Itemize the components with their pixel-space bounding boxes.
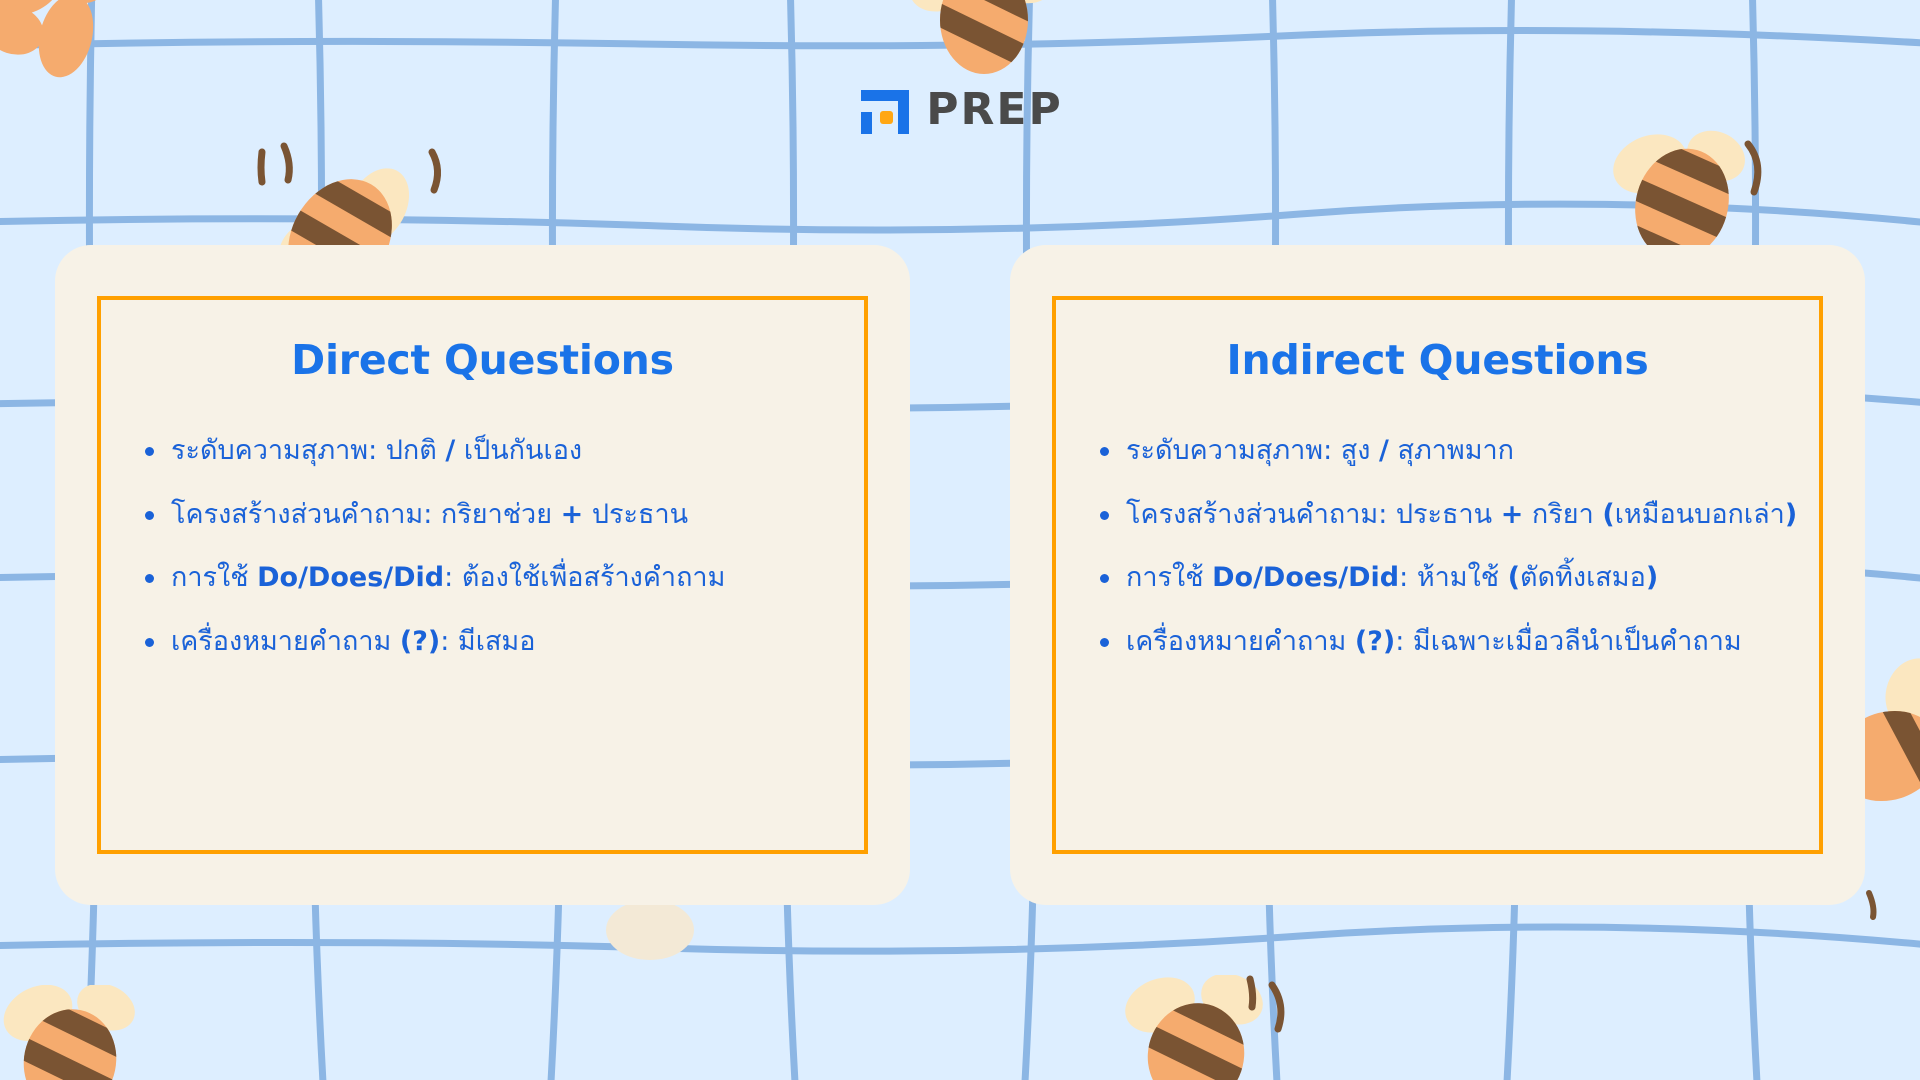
list-item-mid: :: [1399, 562, 1408, 593]
list-item-mid: :: [444, 562, 453, 593]
list-item: ระดับความสุภาพ: สูง / สุภาพมาก: [1090, 433, 1785, 469]
list-item-mid: กริยาช่วย: [432, 499, 560, 530]
card-indirect-inner-frame: Indirect Questions ระดับความสุภาพ: สูง /…: [1052, 296, 1823, 854]
list-item: เครื่องหมายคำถาม (?): มีเสมอ: [135, 624, 830, 660]
list-item-tail: กริยา: [1523, 499, 1602, 530]
list-item: การใช้ Do/Does/Did: ห้ามใช้ (ตัดทิ้งเสมอ…: [1090, 560, 1785, 596]
brand-logo[interactable]: PREP: [0, 82, 1920, 138]
list-item-strong-close-paren: ): [1785, 499, 1797, 530]
list-item: การใช้ Do/Does/Did: ต้องใช้เพื่อสร้างคำถ…: [135, 560, 830, 596]
list-item-mid: :: [440, 626, 449, 657]
bee-top-center-icon: [900, 0, 1070, 78]
list-item-strong-open-paren: (: [1602, 499, 1614, 530]
bullet-icon: [145, 574, 154, 583]
list-item-strong: /: [1379, 435, 1389, 466]
bullet-icon: [1100, 638, 1109, 647]
bee-bottom-left-icon: [0, 985, 170, 1080]
list-item-tail: มีเฉพาะเมื่อวลีนำเป็นคำถาม: [1404, 626, 1741, 657]
list-item-strong-open-paren: (: [1508, 562, 1520, 593]
list-item-tail: สุภาพมาก: [1389, 435, 1514, 466]
list-item-tail: ห้ามใช้: [1408, 562, 1507, 593]
bullet-icon: [1100, 574, 1109, 583]
list-item: โครงสร้างส่วนคำถาม: กริยาช่วย + ประธาน: [135, 497, 830, 533]
list-item-label: ระดับความสุภาพ:: [171, 435, 377, 466]
list-item-label: เครื่องหมายคำถาม: [1126, 626, 1355, 657]
bullet-icon: [1100, 447, 1109, 456]
accent-dash-icon: [1855, 885, 1895, 925]
card-direct-title: Direct Questions: [135, 336, 830, 385]
list-item-strong: Do/Does/Did: [257, 562, 444, 593]
list-item-strong: +: [1501, 499, 1524, 530]
list-item-strong: Do/Does/Did: [1212, 562, 1399, 593]
list-item-tail: ต้องใช้เพื่อสร้างคำถาม: [453, 562, 725, 593]
list-item-label: โครงสร้างส่วนคำถาม:: [1126, 499, 1387, 530]
list-item-label: การใช้: [1126, 562, 1212, 593]
poster-canvas: PREP Direct Questions ระดับความสุภาพ: ปก…: [0, 0, 1920, 1080]
card-direct-inner-frame: Direct Questions ระดับความสุภาพ: ปกติ / …: [97, 296, 868, 854]
list-item-tail2: ตัดทิ้งเสมอ: [1520, 562, 1646, 593]
brand-logo-text: PREP: [926, 88, 1062, 132]
list-item-mid: สูง: [1332, 435, 1379, 466]
bullet-icon: [145, 447, 154, 456]
list-item-tail: ประธาน: [583, 499, 688, 530]
list-item-mid: ปกติ: [377, 435, 445, 466]
list-item-label: ระดับความสุภาพ:: [1126, 435, 1332, 466]
list-item: โครงสร้างส่วนคำถาม: ประธาน + กริยา (เหมื…: [1090, 497, 1785, 533]
list-item-strong-close-paren: ): [1646, 562, 1658, 593]
bee-bottom-center-icon: [1100, 975, 1300, 1080]
bullet-icon: [145, 511, 154, 520]
card-indirect-title: Indirect Questions: [1090, 336, 1785, 385]
list-item-mid: :: [1395, 626, 1404, 657]
list-item: เครื่องหมายคำถาม (?): มีเฉพาะเมื่อวลีนำเ…: [1090, 624, 1785, 660]
list-item-tail2: เหมือนบอกเล่า: [1615, 499, 1785, 530]
list-item-tail: มีเสมอ: [449, 626, 535, 657]
list-item-strong: +: [561, 499, 584, 530]
list-item-mid: ประธาน: [1387, 499, 1500, 530]
card-direct-list: ระดับความสุภาพ: ปกติ / เป็นกันเอง โครงสร…: [135, 433, 830, 660]
bullet-icon: [145, 638, 154, 647]
list-item: ระดับความสุภาพ: ปกติ / เป็นกันเอง: [135, 433, 830, 469]
list-item-label: การใช้: [171, 562, 257, 593]
list-item-tail: เป็นกันเอง: [455, 435, 582, 466]
card-indirect-questions: Indirect Questions ระดับความสุภาพ: สูง /…: [1010, 245, 1865, 905]
list-item-strong: (?): [1355, 626, 1395, 657]
list-item-strong: (?): [400, 626, 440, 657]
list-item-label: เครื่องหมายคำถาม: [171, 626, 400, 657]
list-item-label: โครงสร้างส่วนคำถาม:: [171, 499, 432, 530]
card-indirect-list: ระดับความสุภาพ: สูง / สุภาพมาก โครงสร้าง…: [1090, 433, 1785, 660]
card-direct-questions: Direct Questions ระดับความสุภาพ: ปกติ / …: [55, 245, 910, 905]
prep-bracket-logo-icon: [857, 82, 913, 138]
bullet-icon: [1100, 511, 1109, 520]
list-item-strong: /: [445, 435, 455, 466]
